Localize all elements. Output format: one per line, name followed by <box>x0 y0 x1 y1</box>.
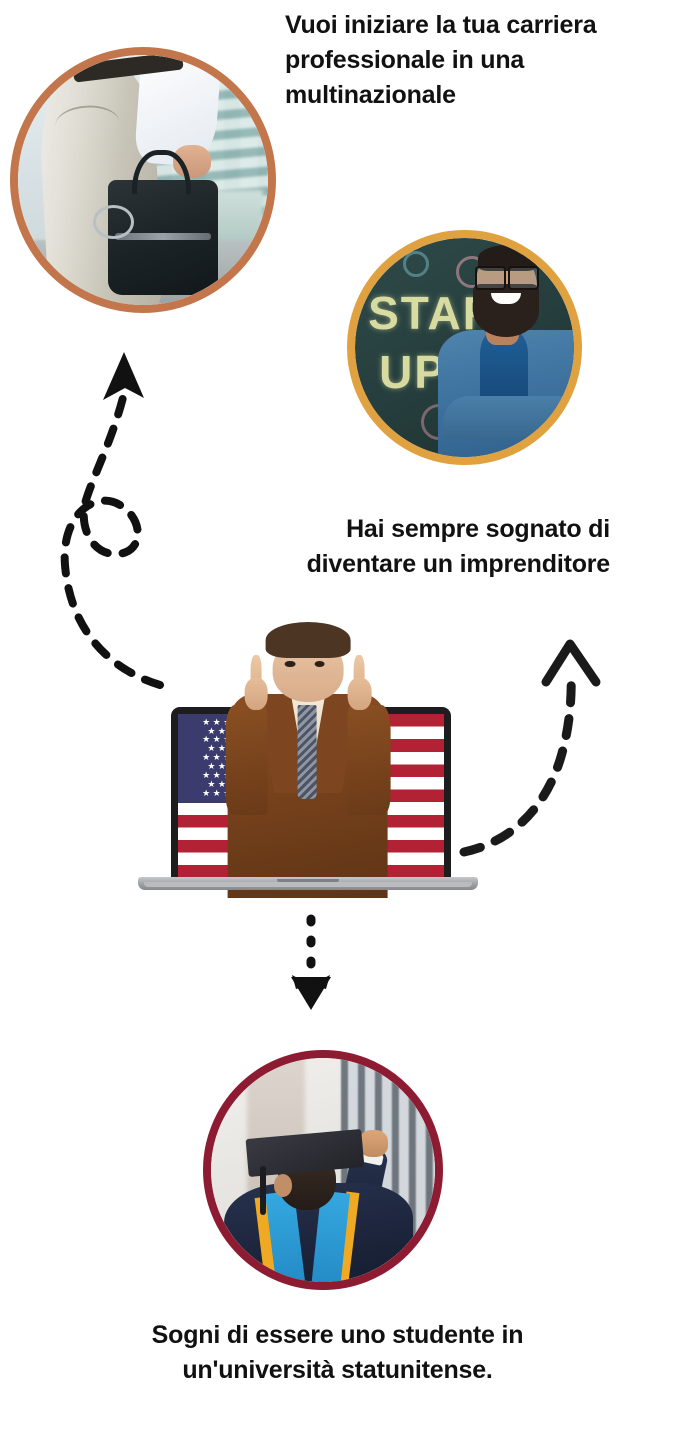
pointing-hand-left-icon <box>245 655 268 710</box>
bag-keyring-icon <box>93 205 134 239</box>
ear-shape <box>274 1174 292 1196</box>
briefcase-icon <box>108 180 218 295</box>
career-photo-circle <box>10 47 276 313</box>
arrow-dotted-down-icon <box>280 915 342 1025</box>
startup-founder-image: START UP <box>355 238 574 457</box>
founder-photo-frame: START UP <box>355 238 574 457</box>
founder-photo-circle: START UP <box>347 230 582 465</box>
hair-shape <box>266 622 350 658</box>
laptop-foot <box>144 882 472 887</box>
crossed-arms-shape <box>443 396 574 440</box>
chalk-text-up: UP <box>379 345 447 399</box>
eyeglasses-icon <box>475 266 539 286</box>
pointing-man-image <box>203 622 414 898</box>
laptop-base <box>138 877 478 890</box>
pointing-hand-right-icon <box>348 655 371 710</box>
founder-headline: Hai sempre sognato di diventare un impre… <box>250 512 610 582</box>
necktie-shape <box>297 705 316 799</box>
student-photo-frame <box>211 1058 435 1282</box>
beard-shape <box>473 284 539 337</box>
businessman-briefcase-image <box>18 55 268 305</box>
eye-left <box>285 661 296 668</box>
infographic-canvas: Vuoi iniziare la tua carriera profession… <box>0 0 675 1440</box>
arm-right-shape <box>348 705 390 815</box>
arrow-curly-up-left-icon <box>40 340 210 690</box>
arm-left-shape <box>226 705 268 815</box>
career-photo-frame <box>18 55 268 305</box>
laptop-illustration: ★ ★ ★ ★ ★ ★ ★ ★ ★ ★ ★ ★ ★ ★ ★ ★ ★ ★ ★ ★ … <box>138 660 478 898</box>
cap-tassel-icon <box>260 1166 266 1215</box>
graduate-image <box>211 1058 435 1282</box>
student-headline: Sogni di essere uno studente in un'unive… <box>100 1318 575 1388</box>
student-photo-circle <box>203 1050 443 1290</box>
career-headline: Vuoi iniziare la tua carriera profession… <box>285 8 675 113</box>
arrow-curved-up-right-icon <box>450 620 620 870</box>
